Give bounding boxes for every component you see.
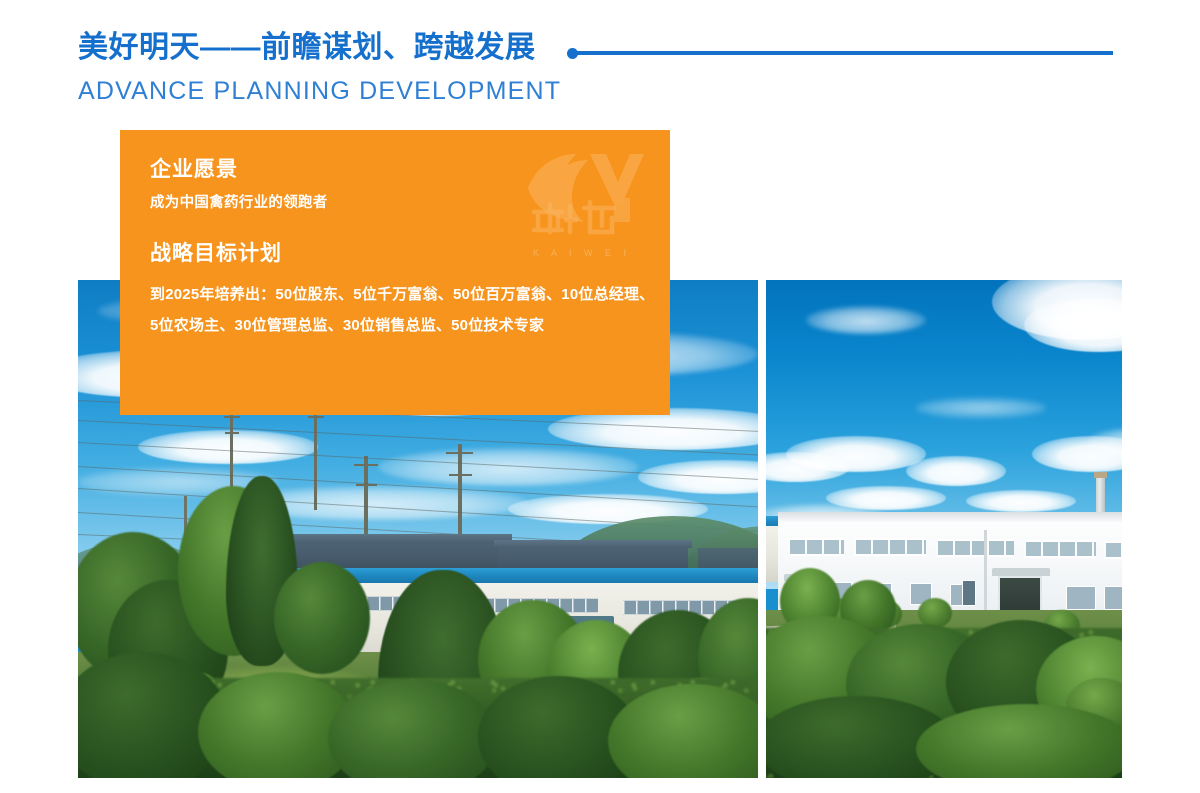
page-subtitle: ADVANCE PLANNING DEVELOPMENT [78, 76, 561, 107]
vision-text: 成为中国禽药行业的领跑者 [150, 193, 640, 213]
page-header: 美好明天——前瞻谋划、跨越发展 ADVANCE PLANNING DEVELOP… [0, 0, 1200, 125]
strategy-heading: 战略目标计划 [150, 240, 640, 267]
slide-root: 美好明天——前瞻谋划、跨越发展 ADVANCE PLANNING DEVELOP… [0, 0, 1200, 793]
photo-office-building [766, 280, 1122, 778]
strategy-text: 到2025年培养出：50位股东、5位千万富翁、50位百万富翁、10位总经理、5位… [150, 279, 655, 341]
vision-heading: 企业愿景 [150, 156, 640, 183]
header-rule-line [576, 51, 1113, 55]
vision-strategy-panel: K A I W E I 企业愿景 成为中国禽药行业的领跑者 战略目标计划 到20… [120, 130, 670, 415]
page-title: 美好明天——前瞻谋划、跨越发展 [78, 30, 536, 66]
